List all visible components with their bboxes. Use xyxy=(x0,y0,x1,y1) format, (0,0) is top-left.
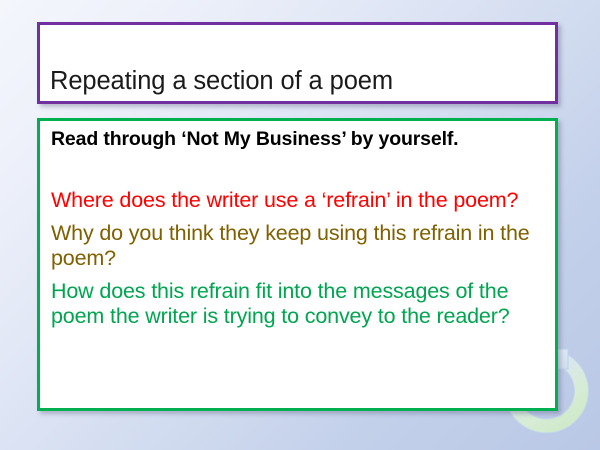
content-box: Read through ‘Not My Business’ by yourse… xyxy=(37,118,558,411)
read-instruction-heading: Read through ‘Not My Business’ by yourse… xyxy=(51,126,547,152)
question-item-1: Where does the writer use a ‘refrain’ in… xyxy=(51,188,547,214)
question-item-2: Why do you think they keep using this re… xyxy=(51,221,547,272)
title-box: Repeating a section of a poem throughout… xyxy=(37,22,558,104)
question-item-3: How does this refrain fit into the messa… xyxy=(51,279,547,330)
slide-canvas: Repeating a section of a poem throughout… xyxy=(0,0,600,450)
content-inner: Read through ‘Not My Business’ by yourse… xyxy=(51,126,547,330)
title-line-1: Repeating a section of a poem xyxy=(50,67,393,95)
